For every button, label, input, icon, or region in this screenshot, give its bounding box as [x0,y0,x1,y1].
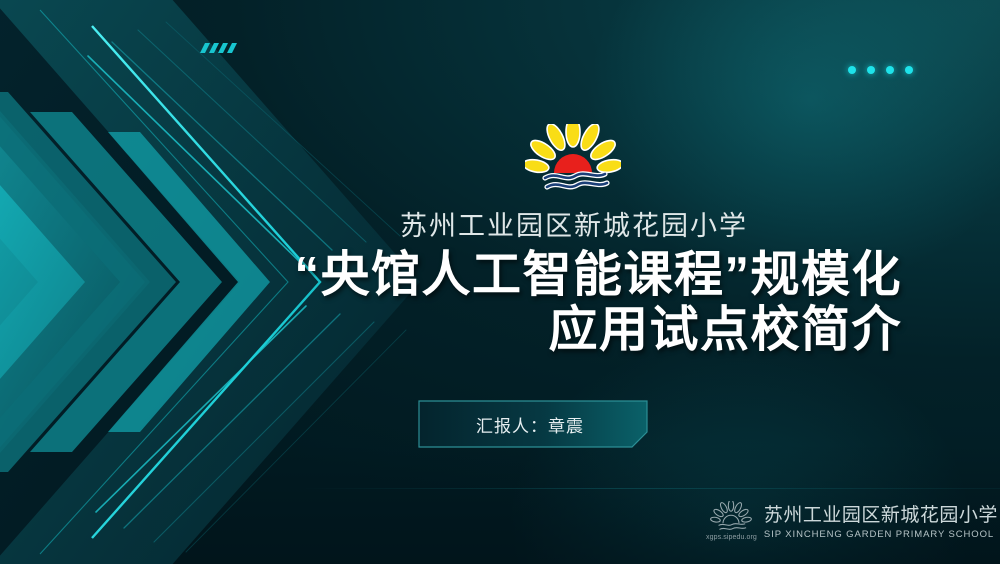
footer-branding: xgps.sipedu.org 苏州工业园区新城花园小学 SIP XINCHEN… [706,500,998,542]
sunflower-logo-icon [525,124,621,196]
school-crest [250,124,895,196]
footer-school-name-cn: 苏州工业园区新城花园小学 [764,500,998,527]
title-slide: 苏州工业园区新城花园小学 “央馆人工智能课程”规模化 应用试点校简介 汇报人：章… [0,0,1000,564]
sunflower-outline-icon [709,501,753,533]
tick-decoration [196,41,240,53]
title-line-2: 应用试点校简介 [250,303,902,358]
title-line-1: “央馆人工智能课程”规模化 [258,248,902,303]
school-name-subtitle: 苏州工业园区新城花园小学 [250,204,898,243]
presenter-label: 汇报人：章震 [418,400,648,448]
footer-school-name-en: SIP XINCHENG GARDEN PRIMARY SCHOOL [764,529,998,540]
slide-title: “央馆人工智能课程”规模化 应用试点校简介 [250,248,902,358]
presenter-banner: 汇报人：章震 [418,400,648,448]
footer-logo: xgps.sipedu.org [706,501,757,541]
footer-url: xgps.sipedu.org [706,534,757,541]
footer-school-text: 苏州工业园区新城花园小学 SIP XINCHENG GARDEN PRIMARY… [764,500,998,542]
content-column: 苏州工业园区新城花园小学 “央馆人工智能课程”规模化 应用试点校简介 [250,0,950,564]
